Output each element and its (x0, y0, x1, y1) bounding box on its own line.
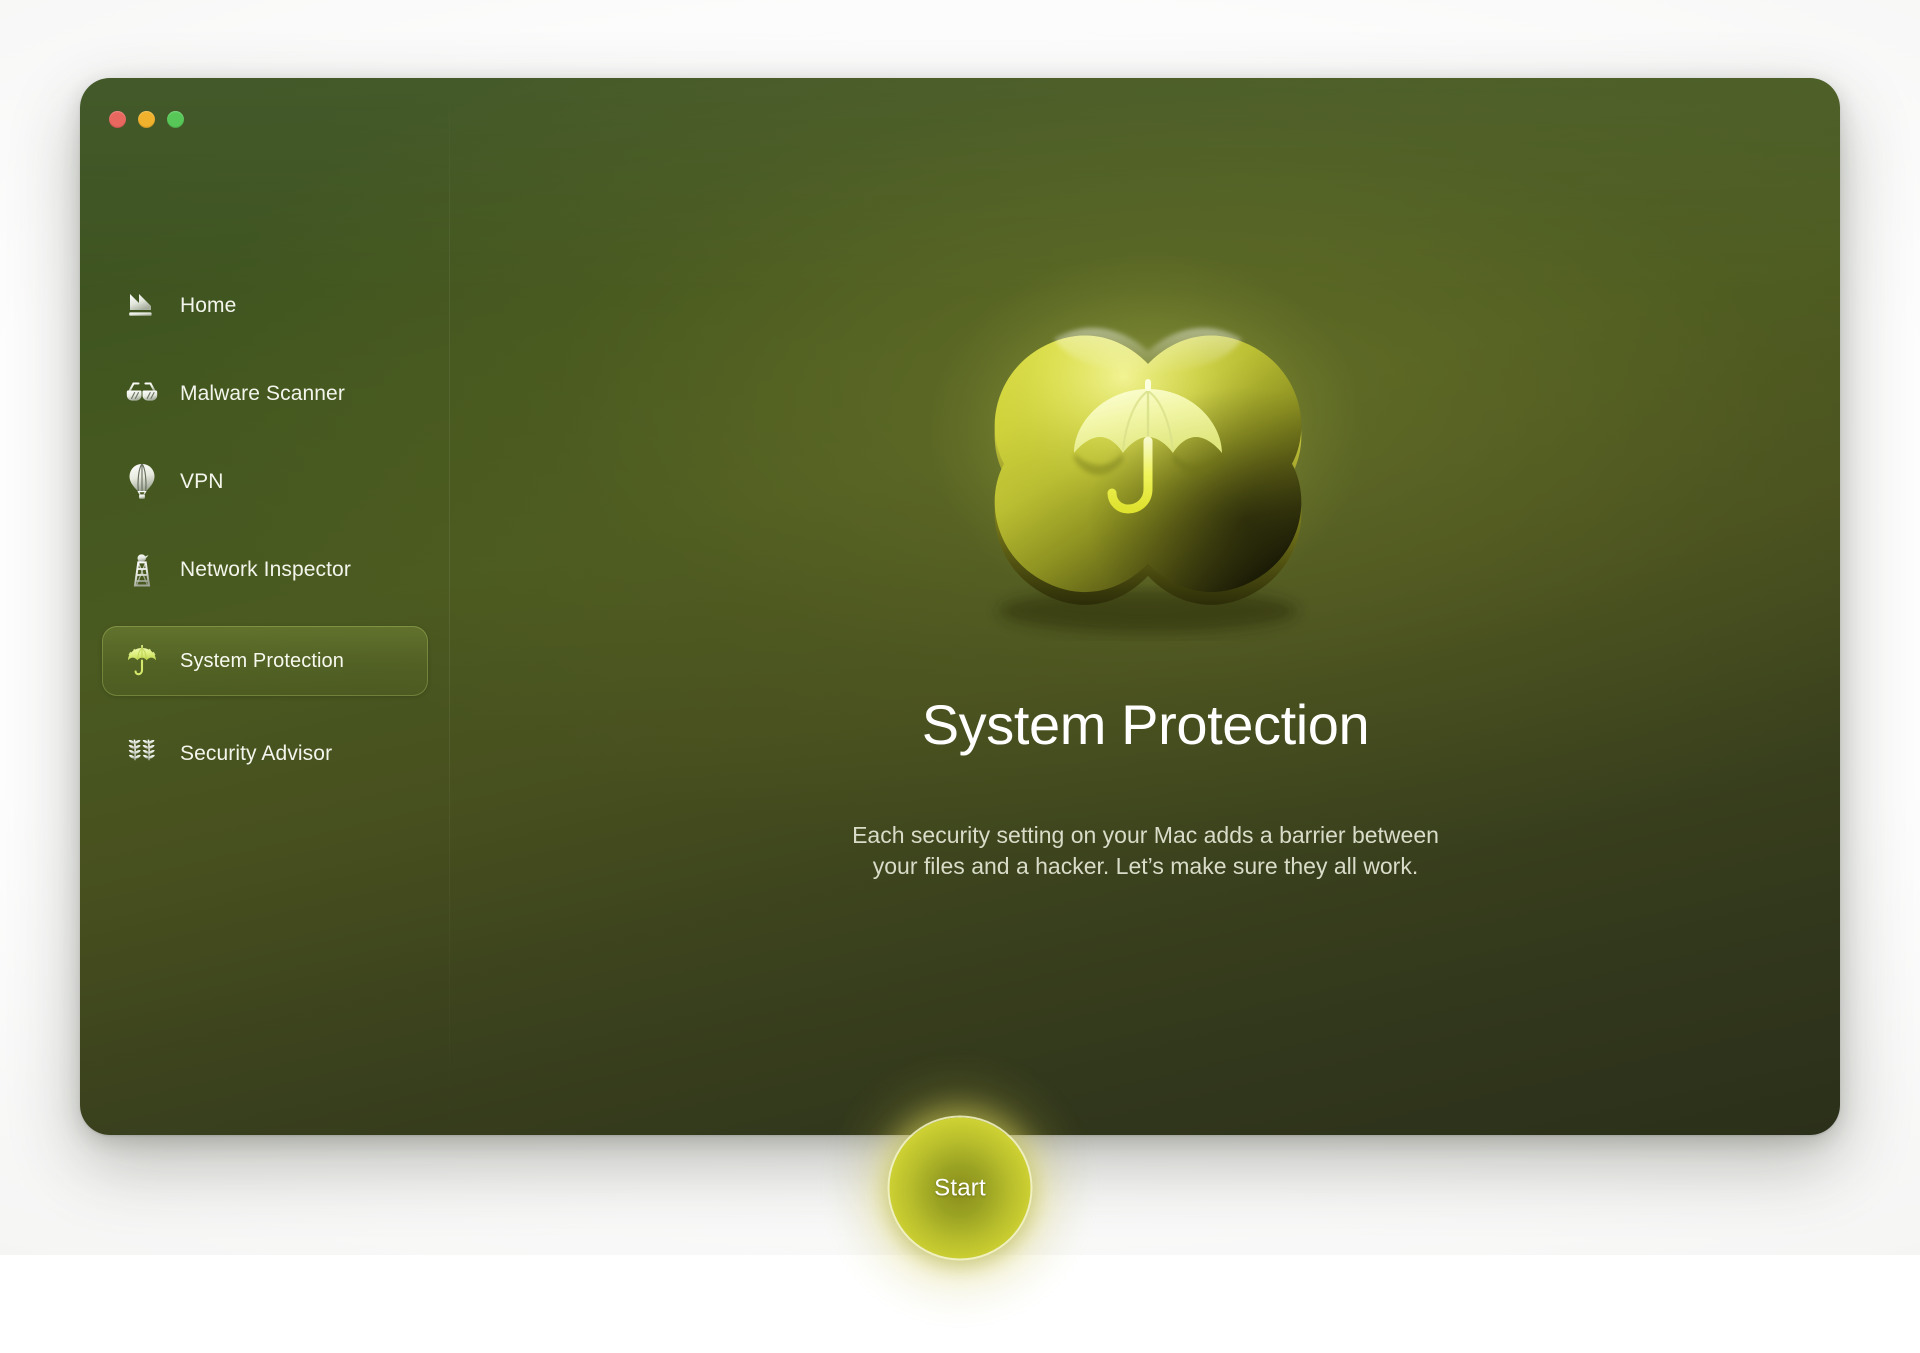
spacer (80, 512, 450, 538)
spacer (80, 600, 450, 626)
sidebar-item-malware-scanner[interactable]: Malware Scanner (102, 362, 428, 424)
hero-icon-container (911, 263, 1381, 658)
minimize-button[interactable] (138, 111, 155, 128)
sidebar-item-label: Security Advisor (180, 743, 332, 764)
window-controls (109, 111, 184, 128)
spacer (80, 696, 450, 722)
sidebar-item-label: System Protection (180, 651, 344, 671)
laurel-branches-icon (122, 732, 162, 774)
spacer (80, 336, 450, 362)
sidebar-divider (449, 78, 450, 1135)
start-button[interactable]: Start (890, 1118, 1031, 1259)
sidebar-item-label: Network Inspector (180, 559, 351, 580)
maximize-button[interactable] (167, 111, 184, 128)
page-description: Each security setting on your Mac adds a… (852, 820, 1439, 881)
sidebar: Home (80, 78, 450, 1135)
sidebar-item-vpn[interactable]: VPN (102, 450, 428, 512)
sidebar-item-security-advisor[interactable]: Security Advisor (102, 722, 428, 784)
sidebar-item-network-inspector[interactable]: Network Inspector (102, 538, 428, 600)
page-description-line-2: your files and a hacker. Let’s make sure… (873, 853, 1418, 879)
glasses-icon (122, 372, 162, 414)
sidebar-item-label: Malware Scanner (180, 383, 345, 404)
page-description-line-1: Each security setting on your Mac adds a… (852, 822, 1439, 848)
sidebar-item-home[interactable]: Home (102, 274, 428, 336)
home-icon (122, 284, 162, 326)
umbrella-icon (122, 640, 162, 682)
hot-air-balloon-icon (122, 460, 162, 502)
spacer (80, 424, 450, 450)
sidebar-item-label: VPN (180, 471, 223, 492)
app-window: Home (80, 78, 1840, 1135)
bird-on-tower-icon (122, 548, 162, 590)
main-content: System Protection Each security setting … (451, 78, 1840, 1135)
page-title: System Protection (922, 696, 1370, 755)
umbrella-blob-icon (926, 281, 1366, 641)
sidebar-item-system-protection[interactable]: System Protection (102, 626, 428, 696)
close-button[interactable] (109, 111, 126, 128)
sidebar-item-label: Home (180, 295, 236, 316)
desktop-background: Home (0, 0, 1920, 1255)
